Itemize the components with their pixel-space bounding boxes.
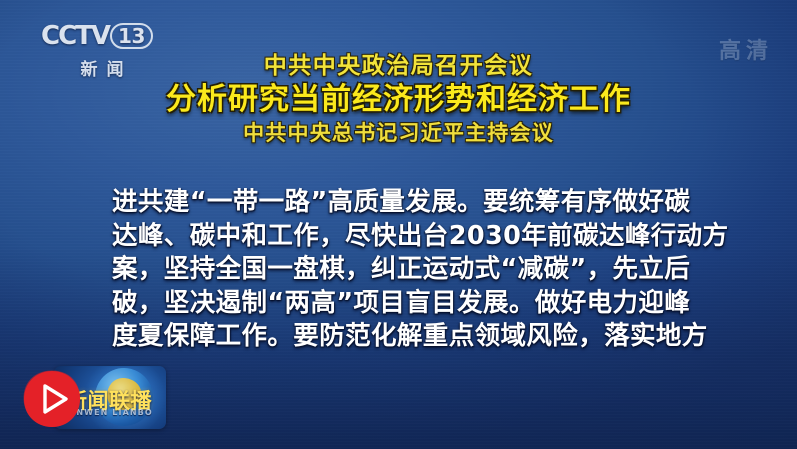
cctv-logo-row: CCTV 13 bbox=[41, 21, 163, 51]
subtitle-line: 案，坚持全国一盘棋，纠正运动式“减碳”，先立后 bbox=[112, 253, 707, 287]
play-icon bbox=[21, 368, 83, 430]
headline-line-3: 中共中央总书记习近平主持会议 bbox=[0, 123, 797, 144]
subtitle-line: 破，坚决遏制“两高”项目盲目发展。做好电力迎峰 bbox=[112, 287, 707, 321]
subtitle-line: 进共建“一带一路”高质量发展。要统筹有序做好碳 bbox=[112, 186, 707, 220]
video-frame: CCTV 13 新闻 高清 中共中央政治局召开会议 分析研究当前经济形势和经济工… bbox=[0, 0, 797, 449]
subtitle-line: 达峰、碳中和工作，尽快出台2030年前碳达峰行动方 bbox=[112, 220, 707, 254]
play-button[interactable]: 播放 bbox=[21, 368, 83, 430]
headline-line-1: 中共中央政治局召开会议 bbox=[0, 55, 797, 78]
subtitle-line: 度夏保障工作。要防范化解重点领域风险，落实地方 bbox=[112, 320, 707, 354]
subtitle-text-block: 进共建“一带一路”高质量发展。要统筹有序做好碳 达峰、碳中和工作，尽快出台203… bbox=[112, 186, 707, 354]
cctv-channel-number: 13 bbox=[110, 23, 153, 49]
headline-block: 中共中央政治局召开会议 分析研究当前经济形势和经济工作 中共中央总书记习近平主持… bbox=[0, 55, 797, 144]
headline-line-2: 分析研究当前经济形势和经济工作 bbox=[0, 85, 797, 115]
cctv-wordmark: CCTV bbox=[41, 21, 109, 51]
